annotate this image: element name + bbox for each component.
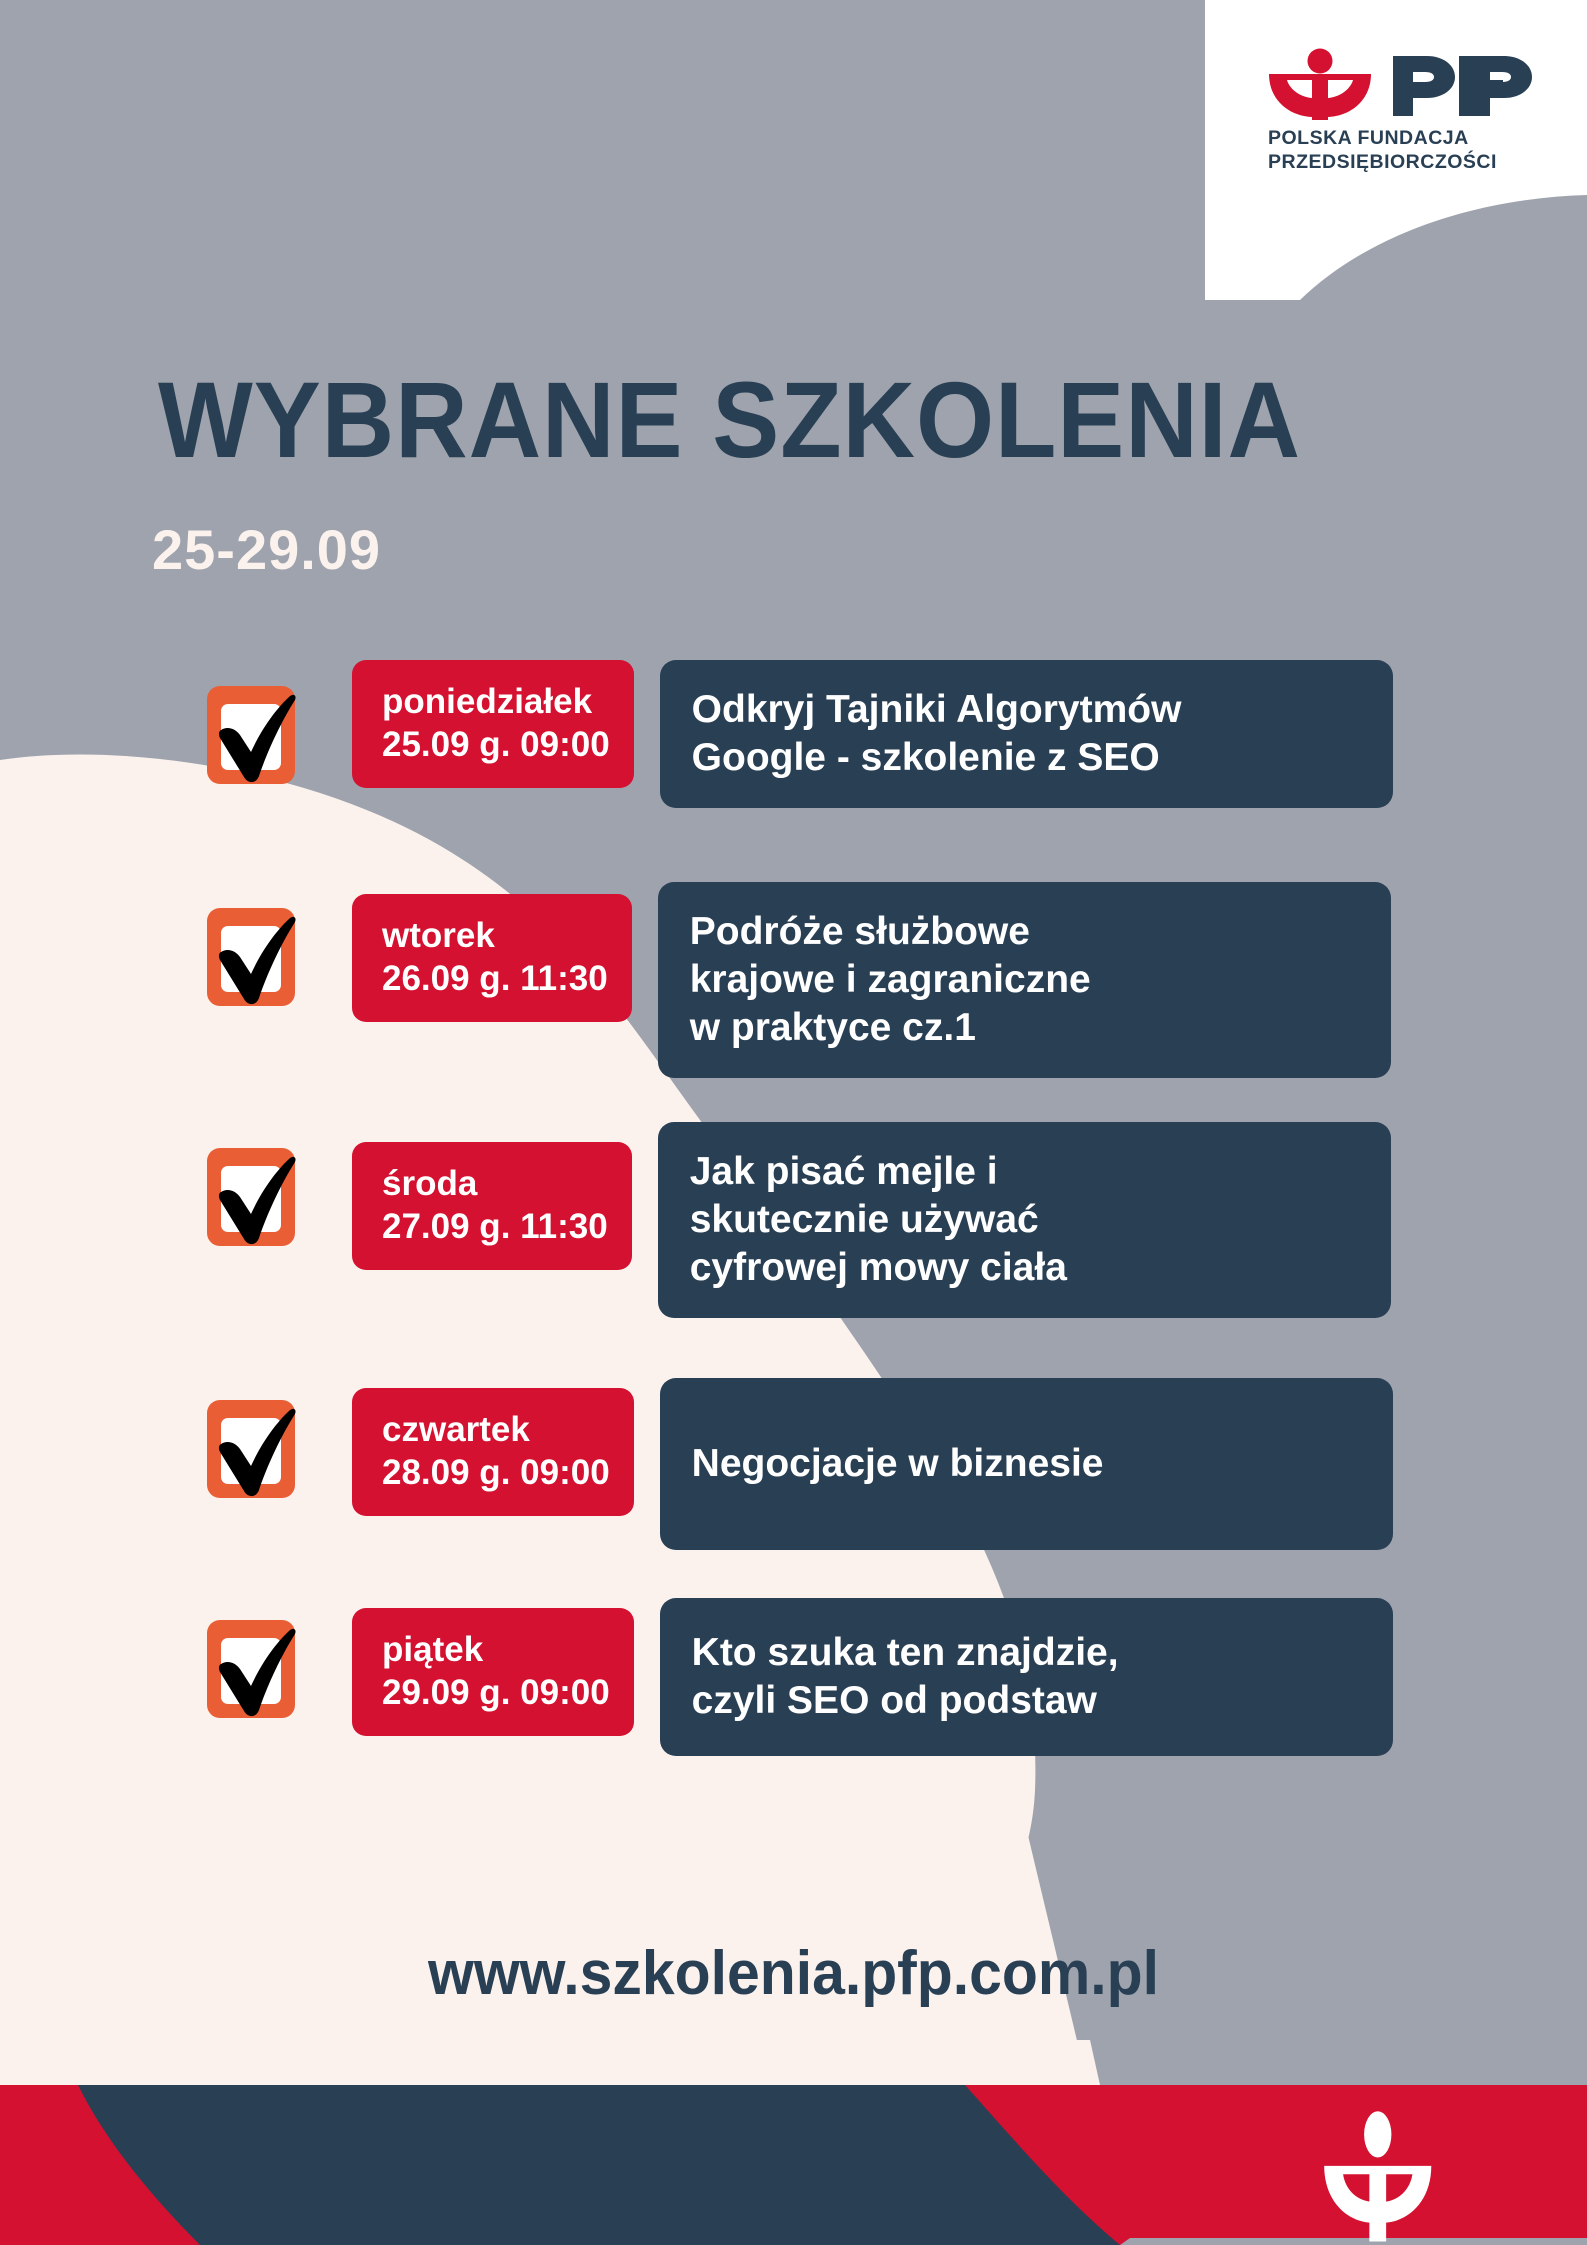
list-item: poniedziałek 25.09 g. 09:00 Odkryj Tajni… <box>0 660 1587 808</box>
course-title: Odkryj Tajniki Algorytmów Google - szkol… <box>692 686 1182 782</box>
checked-checkbox-icon <box>207 1148 295 1246</box>
date-range: 25-29.09 <box>152 520 381 580</box>
day-name: wtorek <box>382 914 608 957</box>
day-badge: wtorek 26.09 g. 11:30 <box>352 894 632 1022</box>
footer-top-gray <box>1090 2040 1587 2085</box>
day-time: 26.09 g. 11:30 <box>382 957 608 1000</box>
day-name: środa <box>382 1162 608 1205</box>
brand-line-2: PRZEDSIĘBIORCZOŚCI <box>1268 150 1535 174</box>
day-time: 29.09 g. 09:00 <box>382 1671 610 1714</box>
pfp-figure-mark-icon <box>1324 2111 1431 2241</box>
course-box: Negocjacje w biznesie <box>660 1378 1393 1550</box>
list-item: wtorek 26.09 g. 11:30 Podróże służbowe k… <box>0 882 1587 1078</box>
checkmark-icon <box>209 1392 301 1500</box>
day-time: 25.09 g. 09:00 <box>382 723 610 766</box>
day-name: czwartek <box>382 1408 610 1451</box>
checked-checkbox-icon <box>207 1620 295 1718</box>
day-badge: czwartek 28.09 g. 09:00 <box>352 1388 634 1516</box>
footer-mark-svg <box>0 2085 1587 2245</box>
checkmark-icon <box>209 900 301 1008</box>
day-badge: piątek 29.09 g. 09:00 <box>352 1608 634 1736</box>
list-item: środa 27.09 g. 11:30 Jak pisać mejle i s… <box>0 1122 1587 1318</box>
checked-checkbox-icon <box>207 686 295 784</box>
day-name: poniedziałek <box>382 680 610 723</box>
brand-line-1: POLSKA FUNDACJA <box>1268 126 1535 150</box>
course-box: Kto szuka ten znajdzie, czyli SEO od pod… <box>660 1598 1393 1756</box>
day-badge: środa 27.09 g. 11:30 <box>352 1142 632 1270</box>
course-title: Podróże służbowe krajowe i zagraniczne w… <box>690 908 1091 1052</box>
page-title: WYBRANE SZKOLENIA <box>158 368 1301 472</box>
day-time: 28.09 g. 09:00 <box>382 1451 610 1494</box>
cream-website-band <box>0 1760 1090 2095</box>
brand-logo: POLSKA FUNDACJA PRZEDSIĘBIORCZOŚCI <box>1265 48 1535 174</box>
course-title: Jak pisać mejle i skutecznie używać cyfr… <box>690 1148 1067 1292</box>
list-item: czwartek 28.09 g. 09:00 Negocjacje w biz… <box>0 1378 1587 1550</box>
footer-banner <box>0 2085 1587 2245</box>
course-box: Odkryj Tajniki Algorytmów Google - szkol… <box>660 660 1393 808</box>
list-item: piątek 29.09 g. 09:00 Kto szuka ten znaj… <box>0 1598 1587 1756</box>
day-time: 27.09 g. 11:30 <box>382 1205 608 1248</box>
checked-checkbox-icon <box>207 1400 295 1498</box>
day-name: piątek <box>382 1628 610 1671</box>
poster: POLSKA FUNDACJA PRZEDSIĘBIORCZOŚCI WYBRA… <box>0 0 1587 2245</box>
day-badge: poniedziałek 25.09 g. 09:00 <box>352 660 634 788</box>
checkmark-icon <box>209 1140 301 1248</box>
course-box: Jak pisać mejle i skutecznie używać cyfr… <box>658 1122 1391 1318</box>
checkmark-icon <box>209 1612 301 1720</box>
pfp-logo-mark-icon <box>1265 48 1533 120</box>
checkmark-icon <box>209 678 301 786</box>
course-title: Negocjacje w biznesie <box>692 1440 1104 1488</box>
brand-logo-panel: POLSKA FUNDACJA PRZEDSIĘBIORCZOŚCI <box>1205 0 1587 262</box>
checked-checkbox-icon <box>207 908 295 1006</box>
course-title: Kto szuka ten znajdzie, czyli SEO od pod… <box>692 1629 1119 1725</box>
website-url[interactable]: www.szkolenia.pfp.com.pl <box>40 1938 1548 2010</box>
course-box: Podróże służbowe krajowe i zagraniczne w… <box>658 882 1391 1078</box>
